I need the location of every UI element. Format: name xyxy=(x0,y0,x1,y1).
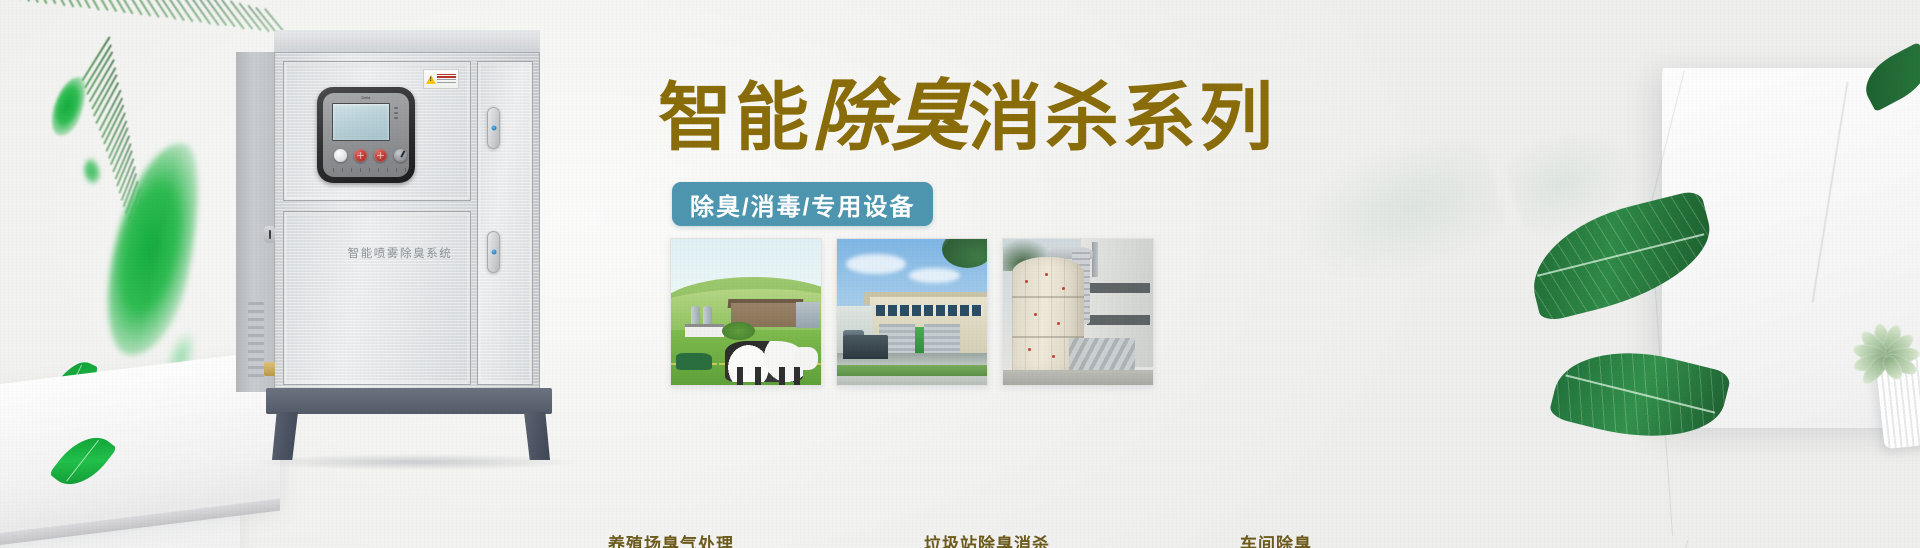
cabinet-foot-left xyxy=(272,412,298,460)
application-photo-strip xyxy=(670,238,1154,386)
door-handle-lower[interactable] xyxy=(487,231,500,273)
headline-part-3: 消杀系列 xyxy=(968,75,1276,161)
high-voltage-warning-label xyxy=(423,69,459,89)
bottom-caption-2: 垃圾站除臭消杀 xyxy=(924,530,1050,548)
tank-marker xyxy=(1052,355,1055,358)
cabinet-foot-right xyxy=(524,412,550,460)
headline-part-1: 智能 xyxy=(658,75,812,161)
white-indicator-lamp xyxy=(334,149,347,162)
tank-marker xyxy=(1028,348,1031,351)
headline-part-2: 除臭 xyxy=(812,71,968,162)
cow-leg xyxy=(794,367,800,385)
bottom-caption-3: 车间除臭 xyxy=(1240,530,1312,548)
cabinet-lower-door xyxy=(283,211,471,385)
grass-strip xyxy=(837,365,987,377)
hmi-brand-label: Delta xyxy=(362,96,371,100)
cabinet-ground-shadow xyxy=(256,454,576,470)
cow-silhouette xyxy=(676,353,712,371)
emergency-stop-button-1[interactable] xyxy=(354,149,367,162)
tank-marker xyxy=(1062,287,1065,290)
handle-lock-dot xyxy=(491,250,496,255)
cabinet-side-panel xyxy=(236,52,276,392)
tank-marker xyxy=(1025,280,1028,283)
cabinet-vent-louver xyxy=(248,302,264,380)
hmi-control-panel[interactable]: Delta xyxy=(317,87,415,183)
farm-house xyxy=(685,324,724,337)
exhaust-stack xyxy=(1092,242,1098,277)
tank-marker xyxy=(1045,273,1048,276)
badge-label: 除臭/消毒/专用设备 xyxy=(690,187,915,222)
cabinet-plinth xyxy=(266,388,552,414)
loading-bay-door-2 xyxy=(924,324,960,356)
status-badge: 除臭/消毒/专用设备 xyxy=(672,182,933,226)
warning-text-lines xyxy=(437,74,456,84)
hmi-status-leds xyxy=(394,107,398,122)
marble-vein xyxy=(1812,82,1848,303)
cow-leg xyxy=(779,367,785,385)
bottom-caption-row: 养殖场臭气处理 垃圾站除臭消杀 车间除臭 xyxy=(0,530,1920,548)
window-band-1 xyxy=(1087,283,1150,293)
cabinet-lock-gold[interactable] xyxy=(264,362,275,376)
photo-plant[interactable] xyxy=(836,238,988,386)
photo-tower[interactable] xyxy=(1002,238,1154,386)
bottom-caption-1: 养殖场臭气处理 xyxy=(608,530,734,548)
window-band-2 xyxy=(1087,315,1150,325)
hmi-label-strip xyxy=(333,168,409,172)
product-banner: Delta 智能喷雾除臭系统 xyxy=(0,0,1920,548)
ground xyxy=(1003,370,1153,385)
cloud xyxy=(909,268,960,283)
barn-secondary xyxy=(796,302,820,328)
cow-leg xyxy=(755,367,761,385)
truck-body xyxy=(843,335,888,358)
spray-deodorizing-cabinet: Delta 智能喷雾除臭系统 xyxy=(236,30,576,442)
door-handle-upper[interactable] xyxy=(487,107,500,149)
cabinet-front-body: Delta 智能喷雾除臭系统 xyxy=(274,52,540,392)
emergency-stop-button-2[interactable] xyxy=(374,149,387,162)
tank-marker xyxy=(1034,313,1037,316)
photo-farm[interactable] xyxy=(670,238,822,386)
cabinet-right-door xyxy=(477,61,533,385)
handle-lock-dot xyxy=(491,126,496,131)
cabinet-label: 智能喷雾除臭系统 xyxy=(325,245,475,261)
clerestory-windows xyxy=(876,305,983,317)
hmi-faceplate: Delta xyxy=(323,93,409,177)
tank-marker xyxy=(1057,322,1060,325)
cabinet-lock-left[interactable] xyxy=(264,226,275,243)
tank-seam xyxy=(1012,296,1084,298)
rotary-selector-knob[interactable] xyxy=(394,149,407,162)
cloud xyxy=(846,254,906,274)
cow-leg xyxy=(737,367,743,385)
touch-screen[interactable] xyxy=(332,103,390,141)
bush xyxy=(722,322,755,340)
warning-triangle-icon xyxy=(426,75,436,84)
page-title: 智能除臭消杀系列 xyxy=(658,74,1318,160)
